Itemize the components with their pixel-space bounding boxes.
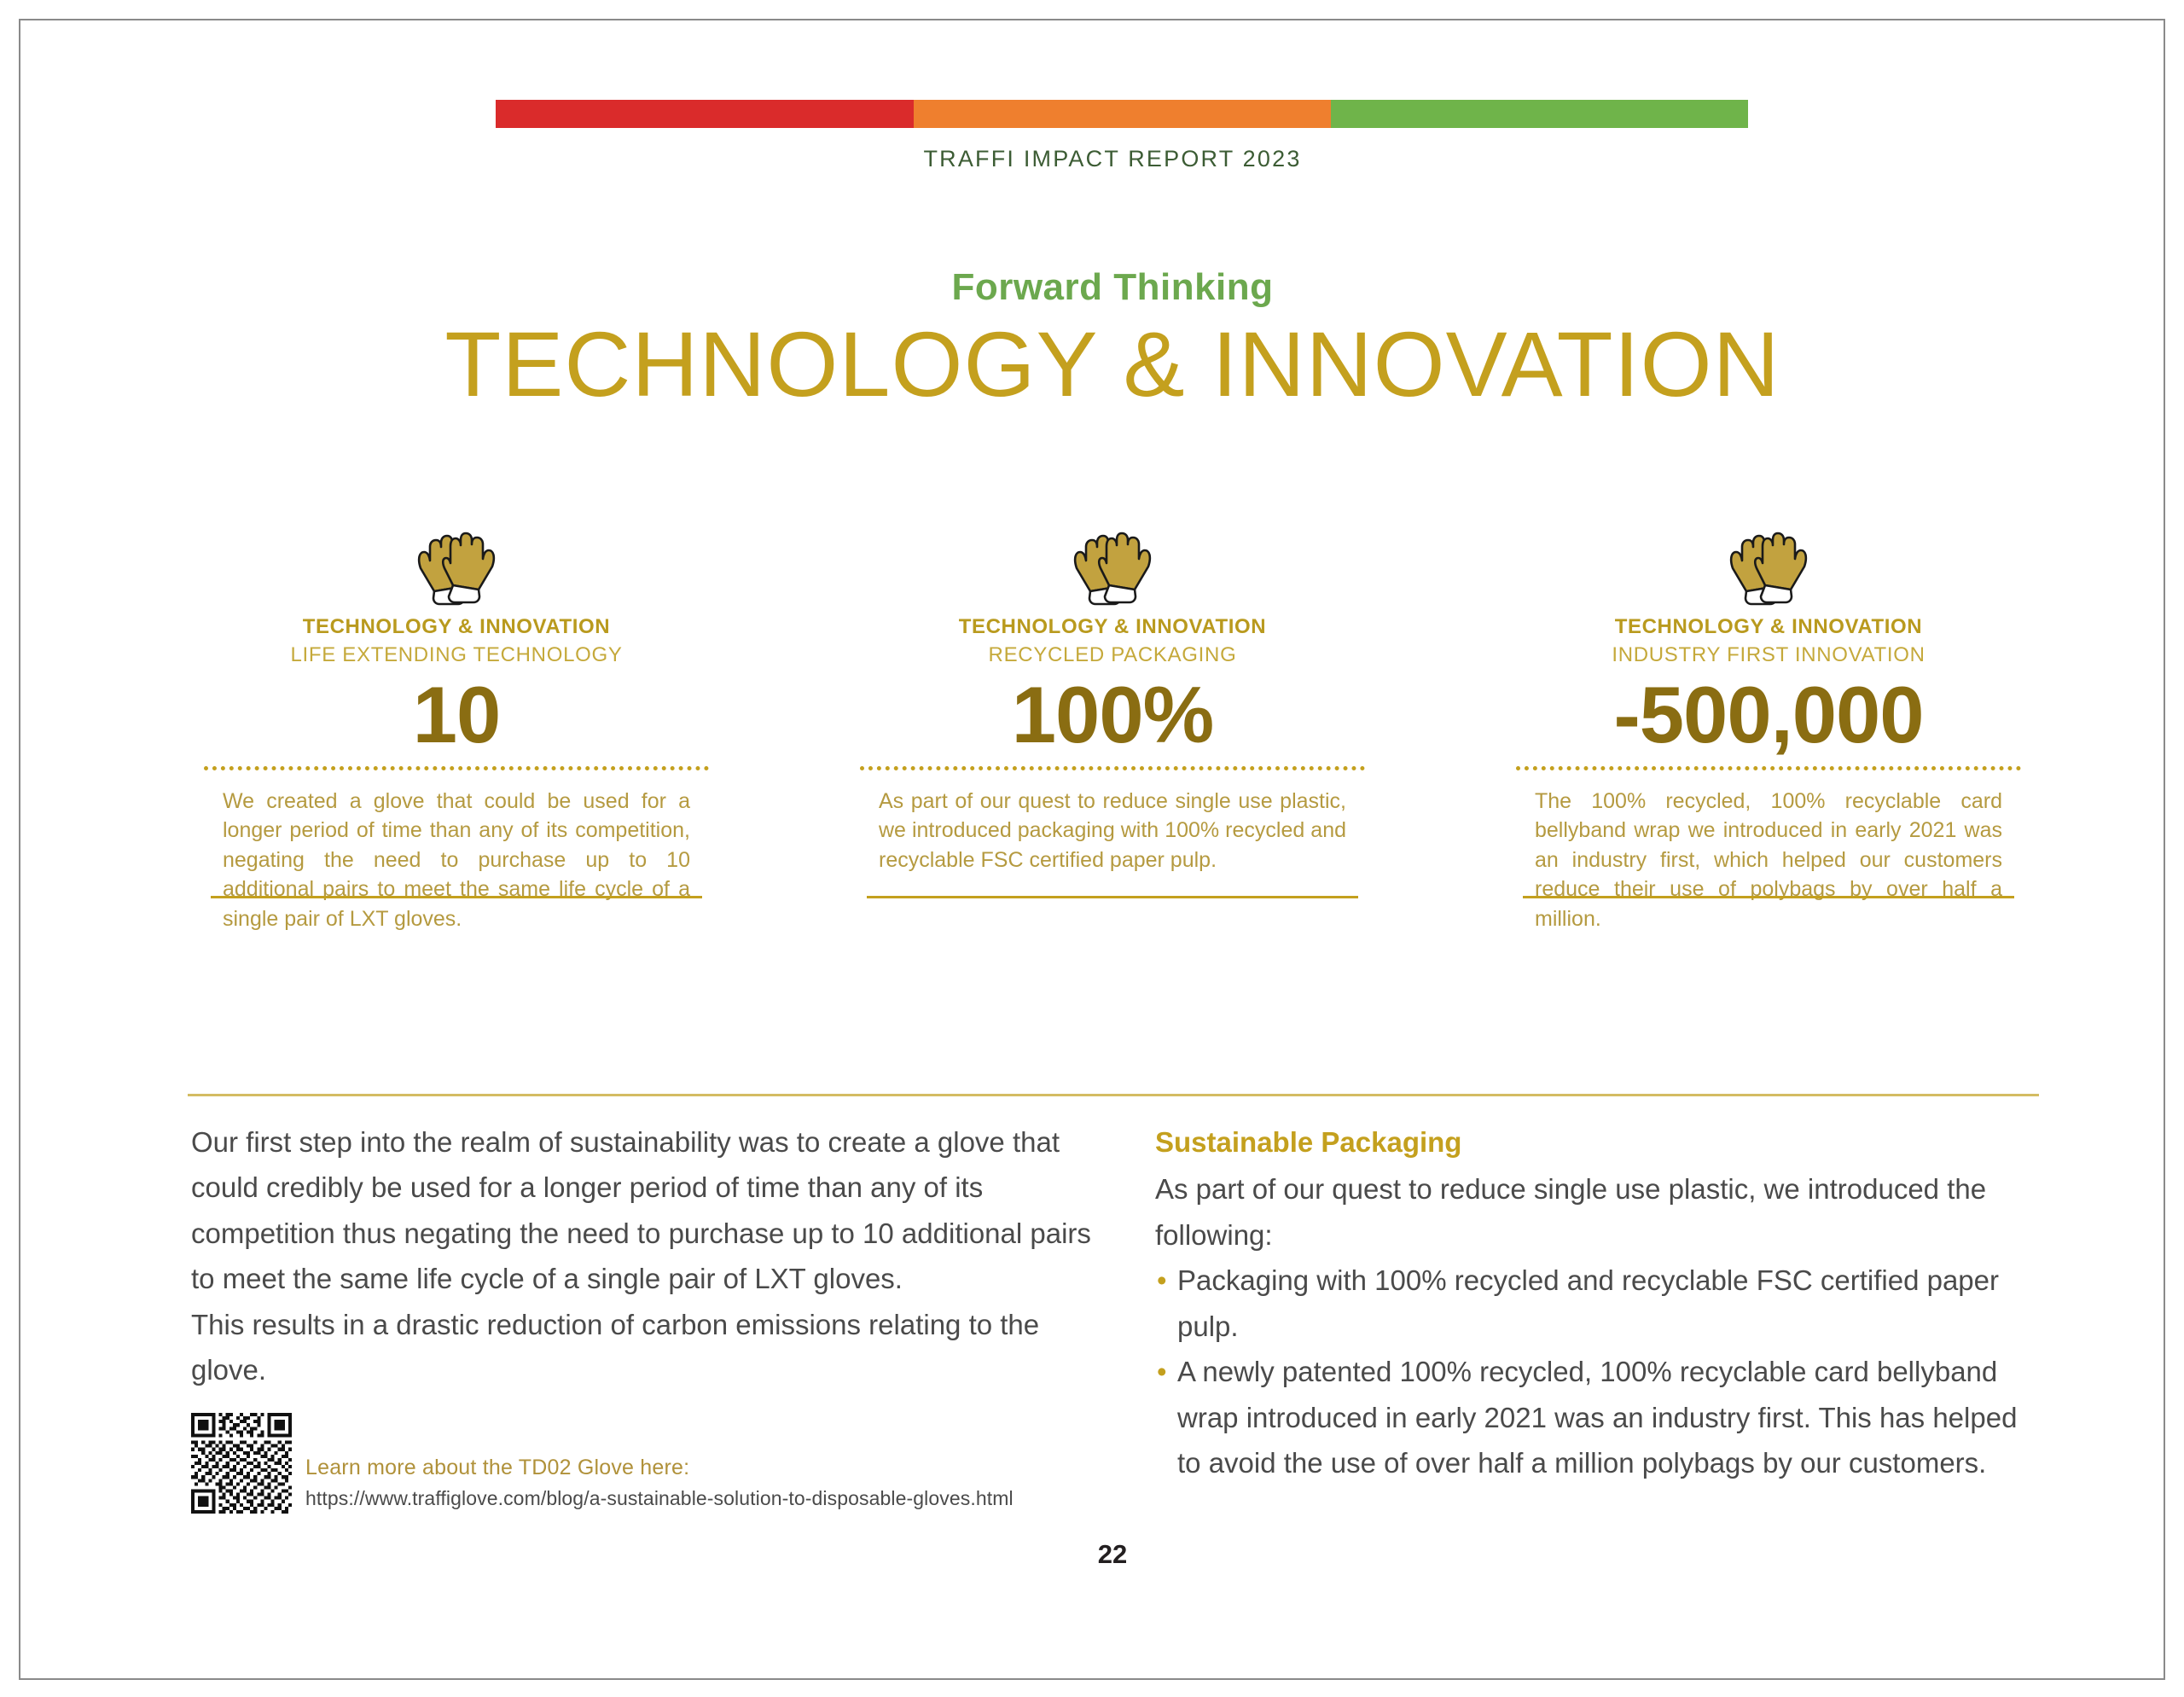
qr-url[interactable]: https://www.traffiglove.com/blog/a-susta… [305, 1487, 1014, 1510]
stat-card-subtitle: INDUSTRY FIRST INNOVATION [1516, 642, 2021, 668]
stat-card-kicker: TECHNOLOGY & INNOVATION [204, 614, 709, 640]
body-paragraph-2: This results in a drastic reduction of c… [191, 1302, 1095, 1393]
stat-card-value: -500,000 [1516, 673, 2021, 758]
sustainable-packaging-intro: As part of our quest to reduce single us… [1155, 1166, 2042, 1258]
header-color-bar [496, 100, 1748, 128]
color-bar-orange-segment [914, 100, 1331, 128]
page-number: 22 [20, 1539, 2184, 1570]
page-title: TECHNOLOGY & INNOVATION [20, 311, 2184, 417]
list-item-text: A newly patented 100% recycled, 100% rec… [1177, 1356, 2017, 1479]
sustainable-packaging-list: • Packaging with 100% recycled and recyc… [1155, 1258, 2042, 1485]
bullet-dot-icon: • [1157, 1349, 1167, 1394]
color-bar-green-segment [1331, 100, 1748, 128]
bullet-dot-icon: • [1157, 1258, 1167, 1303]
stat-card-bottom-rule [867, 896, 1358, 945]
sustainable-packaging-heading: Sustainable Packaging [1155, 1119, 2042, 1165]
stat-card-dotted-divider [204, 766, 709, 775]
report-running-head: TRAFFI IMPACT REPORT 2023 [20, 146, 2184, 172]
stat-card: TECHNOLOGY & INNOVATION LIFE EXTENDING T… [204, 524, 709, 933]
stat-card-bottom-rule [1523, 896, 2014, 945]
gloves-icon [1719, 524, 1818, 607]
list-item: • Packaging with 100% recycled and recyc… [1155, 1258, 2042, 1349]
color-bar-red-segment [496, 100, 914, 128]
stat-card: TECHNOLOGY & INNOVATION INDUSTRY FIRST I… [1516, 524, 2021, 933]
stat-card-body: As part of our quest to reduce single us… [860, 787, 1365, 875]
stat-card-kicker: TECHNOLOGY & INNOVATION [1516, 614, 2021, 640]
stat-card-subtitle: RECYCLED PACKAGING [860, 642, 1365, 668]
body-paragraph-1: Our first step into the realm of sustain… [191, 1119, 1095, 1302]
stat-card-value: 10 [204, 673, 709, 758]
stat-card-bottom-rule [211, 896, 702, 945]
page-frame: TRAFFI IMPACT REPORT 2023 Forward Thinki… [19, 19, 2165, 1680]
body-left-column: Our first step into the realm of sustain… [191, 1119, 1095, 1393]
list-item: • A newly patented 100% recycled, 100% r… [1155, 1349, 2042, 1485]
stat-card-subtitle: LIFE EXTENDING TECHNOLOGY [204, 642, 709, 668]
qr-code-block[interactable]: Learn more about the TD02 Glove here: ht… [191, 1413, 1014, 1514]
qr-text-group: Learn more about the TD02 Glove here: ht… [305, 1413, 1014, 1510]
qr-code-icon[interactable] [191, 1413, 292, 1514]
stat-card-value: 100% [860, 673, 1365, 758]
list-item-text: Packaging with 100% recycled and recycla… [1177, 1264, 1999, 1341]
body-right-column: Sustainable Packaging As part of our que… [1155, 1119, 2042, 1486]
stat-card-dotted-divider [860, 766, 1365, 775]
qr-label: Learn more about the TD02 Glove here: [305, 1456, 1014, 1480]
section-eyebrow-title: Forward Thinking [20, 266, 2184, 309]
stat-card-group: TECHNOLOGY & INNOVATION LIFE EXTENDING T… [204, 524, 2021, 933]
stat-card: TECHNOLOGY & INNOVATION RECYCLED PACKAGI… [860, 524, 1365, 933]
section-divider-rule [188, 1094, 2039, 1096]
stat-card-dotted-divider [1516, 766, 2021, 775]
gloves-icon [1063, 524, 1162, 607]
gloves-icon [407, 524, 506, 607]
stat-card-kicker: TECHNOLOGY & INNOVATION [860, 614, 1365, 640]
